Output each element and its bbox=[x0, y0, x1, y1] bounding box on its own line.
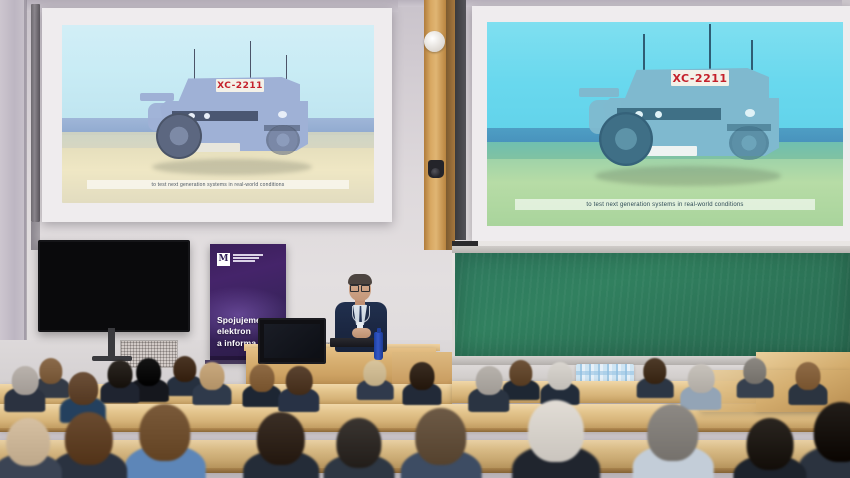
audience-member bbox=[246, 364, 278, 404]
right-projection-screen: XC-2211 to test next generation systems … bbox=[472, 6, 850, 242]
audience-member-head bbox=[415, 408, 466, 465]
audience-member bbox=[684, 364, 718, 407]
audience-member-head bbox=[39, 358, 62, 384]
audience-member bbox=[740, 358, 770, 396]
audience-member-head bbox=[173, 356, 196, 382]
audience-member-head bbox=[643, 358, 666, 384]
audience-member bbox=[520, 400, 592, 478]
audience-member bbox=[472, 366, 506, 409]
audience-member-head bbox=[476, 366, 503, 395]
audience-member bbox=[360, 360, 390, 398]
audience-member bbox=[640, 358, 670, 396]
audience-member-head bbox=[257, 412, 305, 465]
audience-member bbox=[196, 362, 228, 402]
audience-member bbox=[806, 402, 850, 478]
university-logo: M bbox=[217, 253, 263, 266]
audience-member-head bbox=[68, 372, 98, 405]
audience-member-head bbox=[250, 364, 275, 392]
right-projected-slide: XC-2211 to test next generation systems … bbox=[487, 22, 843, 226]
audience-member bbox=[408, 408, 474, 478]
audience-member-head bbox=[6, 418, 50, 466]
audience-member bbox=[282, 366, 316, 409]
blackboard-top-rail bbox=[452, 246, 850, 253]
audience-member-head bbox=[108, 360, 133, 388]
banner-headline-line-2: elektron bbox=[217, 326, 261, 338]
wall-mounted-display[interactable] bbox=[38, 240, 190, 332]
screen-mount-rail bbox=[31, 4, 40, 222]
audience-member bbox=[544, 362, 576, 402]
audience-member-head bbox=[336, 418, 381, 468]
presenter-hands bbox=[352, 328, 371, 338]
audience-member-head bbox=[139, 404, 190, 461]
audience-member-head bbox=[509, 360, 532, 386]
vehicle-wheel bbox=[729, 126, 769, 160]
wall-clock-icon bbox=[424, 31, 445, 52]
green-chalkboard bbox=[455, 253, 850, 356]
lecture-hall-photo: XC-2211 to test next generation systems … bbox=[0, 0, 850, 478]
vehicle-marking-plate-left: XC-2211 bbox=[216, 79, 264, 92]
vehicle-wheel bbox=[599, 112, 653, 166]
audience-member-head bbox=[286, 366, 313, 395]
audience-member bbox=[58, 412, 120, 478]
audience-member-head bbox=[814, 402, 850, 462]
audience-member bbox=[8, 366, 42, 409]
right-slide-caption: to test next generation systems in real-… bbox=[515, 199, 814, 210]
audience-member-head bbox=[136, 358, 162, 386]
audience-member bbox=[0, 418, 56, 478]
audience-member-head bbox=[363, 360, 386, 386]
audience-member-head bbox=[743, 358, 766, 384]
audience-member bbox=[132, 404, 198, 478]
wood-column-shadow bbox=[446, 0, 455, 250]
audience-member-head bbox=[647, 404, 698, 461]
audience-member bbox=[406, 362, 438, 402]
audience-member bbox=[506, 360, 536, 398]
armored-vehicle-left: XC-2211 bbox=[146, 77, 316, 173]
armored-vehicle-right: XC-2211 bbox=[587, 68, 787, 184]
wall-left-panel bbox=[0, 0, 26, 372]
audience-member-head bbox=[12, 366, 39, 395]
audience-member-head bbox=[528, 400, 584, 462]
left-projection-screen: XC-2211 to test next generation systems … bbox=[42, 8, 392, 222]
audience-member-head bbox=[548, 362, 573, 390]
audience-member bbox=[330, 418, 388, 478]
display-stand-neck bbox=[108, 328, 115, 358]
vehicle-wheel bbox=[156, 113, 202, 159]
logo-mark-icon: M bbox=[217, 253, 230, 266]
left-slide-caption: to test next generation systems in real-… bbox=[87, 180, 349, 189]
blue-water-bottle bbox=[374, 332, 383, 360]
glasses-icon bbox=[350, 284, 370, 290]
logo-wordmark bbox=[233, 253, 263, 262]
audience-member bbox=[640, 404, 706, 478]
audience-member bbox=[104, 360, 136, 400]
audience-member bbox=[250, 412, 312, 478]
audience-member bbox=[740, 418, 800, 478]
audience-member-head bbox=[410, 362, 435, 390]
vehicle-marking-plate-right: XC-2211 bbox=[671, 70, 729, 86]
vehicle-wheel bbox=[266, 125, 300, 155]
audience-member-head bbox=[747, 418, 794, 470]
presenter-monitor[interactable] bbox=[258, 318, 326, 364]
audience-member-head bbox=[688, 364, 715, 393]
audience-member-head bbox=[200, 362, 225, 390]
wall-recess-gap bbox=[455, 0, 466, 240]
banner-headline-line-1: Spojujeme bbox=[217, 315, 261, 327]
ceiling-camera-icon bbox=[428, 160, 444, 178]
audience-member-head bbox=[65, 412, 113, 465]
wall-seam bbox=[24, 0, 27, 372]
audience-member bbox=[792, 362, 824, 402]
left-projected-slide: XC-2211 to test next generation systems … bbox=[62, 25, 374, 203]
audience-member-head bbox=[796, 362, 821, 390]
